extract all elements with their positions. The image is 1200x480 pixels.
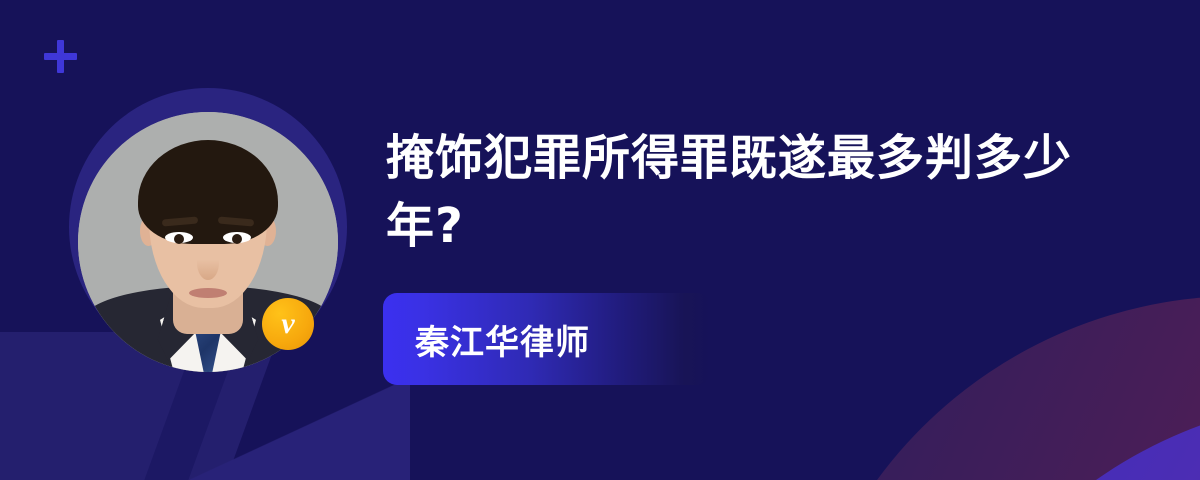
portrait-pupil-right	[232, 234, 242, 244]
triangle-shape	[190, 378, 410, 480]
page-title: 掩饰犯罪所得罪既遂最多判多少年?	[386, 124, 1086, 260]
portrait-pupil-left	[174, 234, 184, 244]
lawyer-name-label: 秦江华律师	[415, 315, 590, 364]
plus-icon	[44, 40, 77, 73]
lawyer-name-badge[interactable]: 秦江华律师	[383, 293, 711, 385]
lawyer-question-banner: v 掩饰犯罪所得罪既遂最多判多少年? 秦江华律师	[0, 0, 1200, 480]
verified-badge-icon: v	[262, 298, 314, 350]
portrait-mouth	[189, 288, 227, 298]
portrait-nose	[197, 246, 219, 280]
verified-badge-label: v	[281, 309, 294, 339]
